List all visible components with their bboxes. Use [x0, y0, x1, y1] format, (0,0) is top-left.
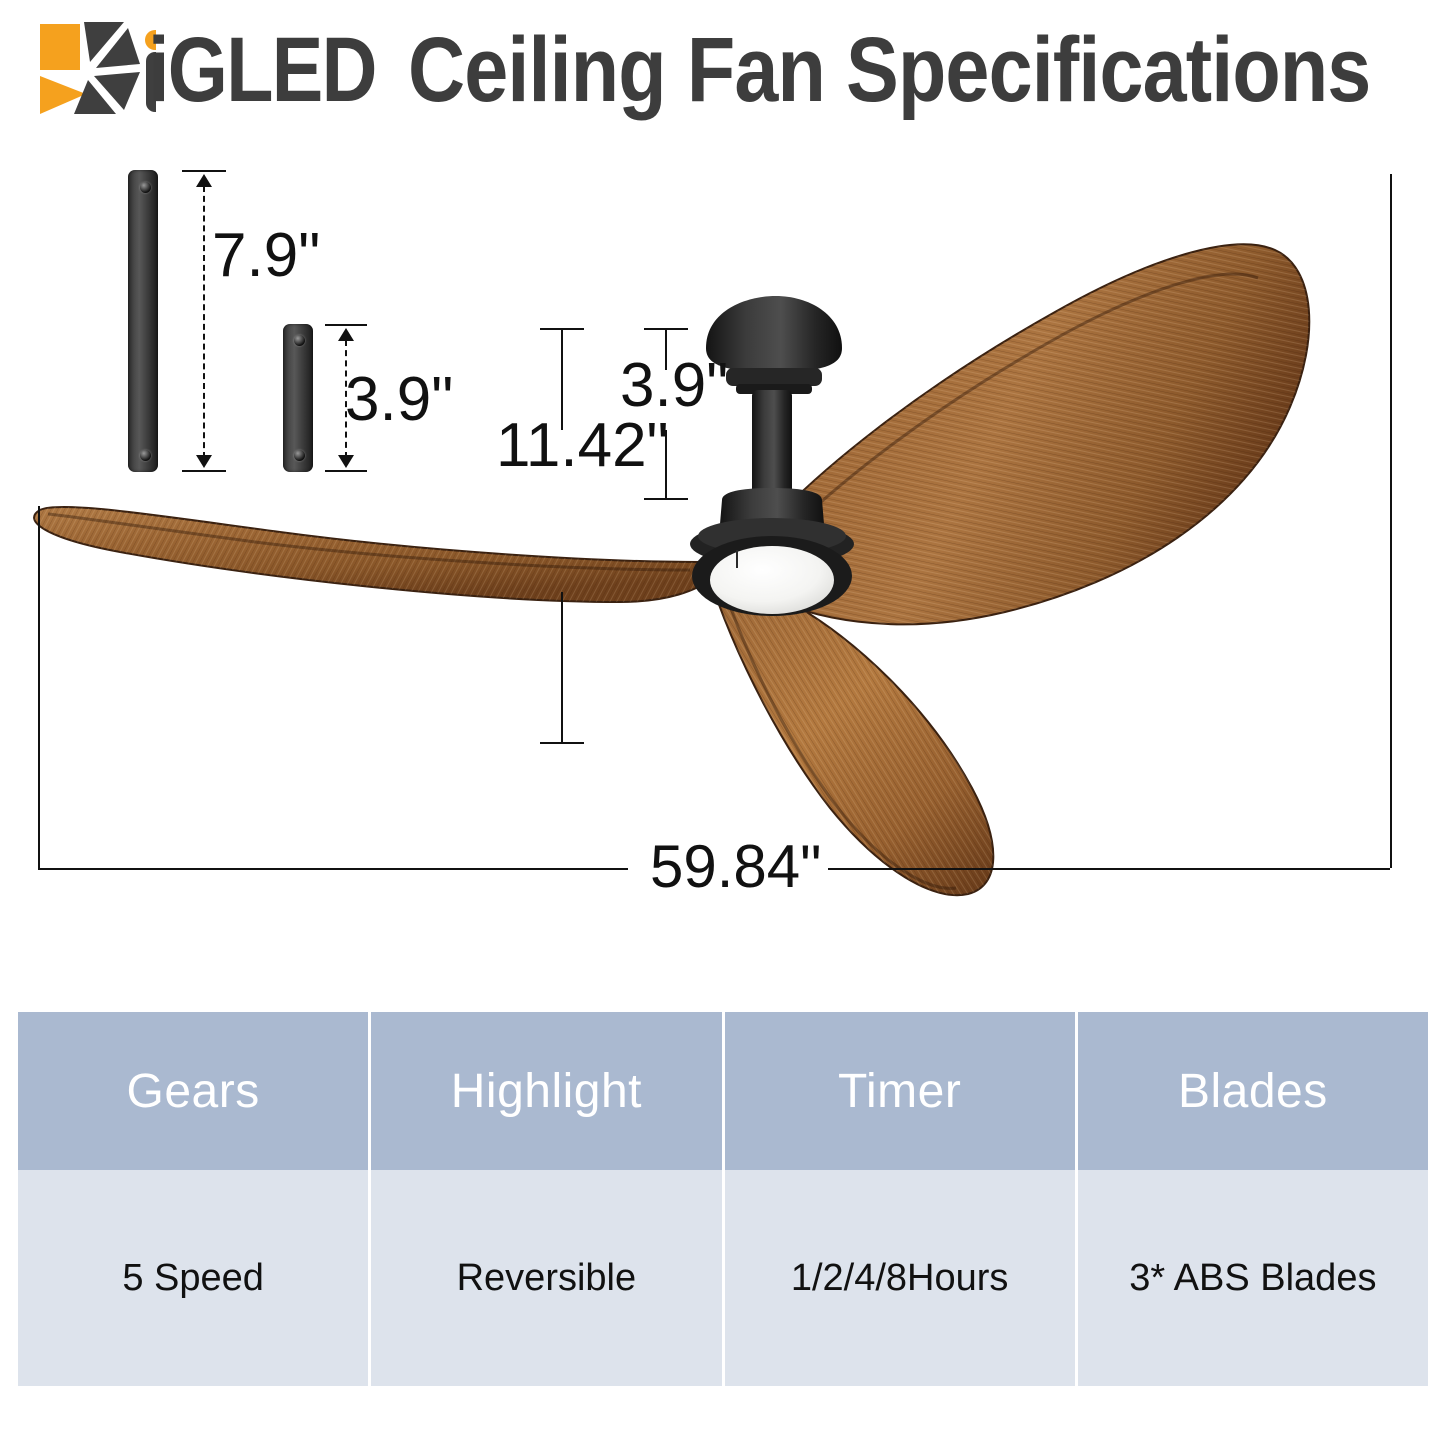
- spec-header-gears: Gears: [18, 1012, 368, 1170]
- dim-label-motor-drop: 3.9": [620, 350, 728, 421]
- dim-line-1142-lower: [561, 592, 563, 744]
- ceiling-fan-dimension-diagram: 7.9" 3.9": [0, 132, 1445, 990]
- spec-header-timer: Timer: [725, 1012, 1075, 1170]
- dim-ext-left: [38, 506, 40, 868]
- page-header: iGLED Ceiling Fan Specifications: [0, 0, 1445, 132]
- aperture-logo-icon: [28, 18, 156, 118]
- spec-header-blades: Blades: [1078, 1012, 1428, 1170]
- dim-line-span-left: [38, 868, 628, 870]
- led-light-disc: [692, 536, 852, 616]
- spec-value-highlight: Reversible: [371, 1170, 721, 1386]
- spec-value-blades: 3* ABS Blades: [1078, 1170, 1428, 1386]
- spec-column-blades: Blades 3* ABS Blades: [1075, 1012, 1428, 1386]
- spec-value-gears: 5 Speed: [18, 1170, 368, 1386]
- dim-line-span-right: [828, 868, 1390, 870]
- specification-table: Gears 5 Speed Highlight Reversible Timer…: [18, 1012, 1428, 1386]
- dim-label-blade-span: 59.84": [650, 832, 821, 901]
- fan-blade-left: [34, 507, 712, 602]
- spec-column-highlight: Highlight Reversible: [368, 1012, 721, 1386]
- spec-value-timer: 1/2/4/8Hours: [725, 1170, 1075, 1386]
- dim-line-39fan-lower: [665, 430, 667, 500]
- spec-column-gears: Gears 5 Speed: [18, 1012, 368, 1386]
- dim-cap-1142-bottom: [540, 742, 584, 744]
- page-title: Ceiling Fan Specifications: [408, 22, 1370, 118]
- spec-column-timer: Timer 1/2/4/8Hours: [722, 1012, 1075, 1386]
- dim-ext-right: [1390, 174, 1392, 868]
- dim-cap-39fan-bottom: [644, 498, 688, 500]
- downrod: [752, 390, 792, 500]
- brand-name: iGLED: [148, 22, 376, 118]
- spec-header-highlight: Highlight: [371, 1012, 721, 1170]
